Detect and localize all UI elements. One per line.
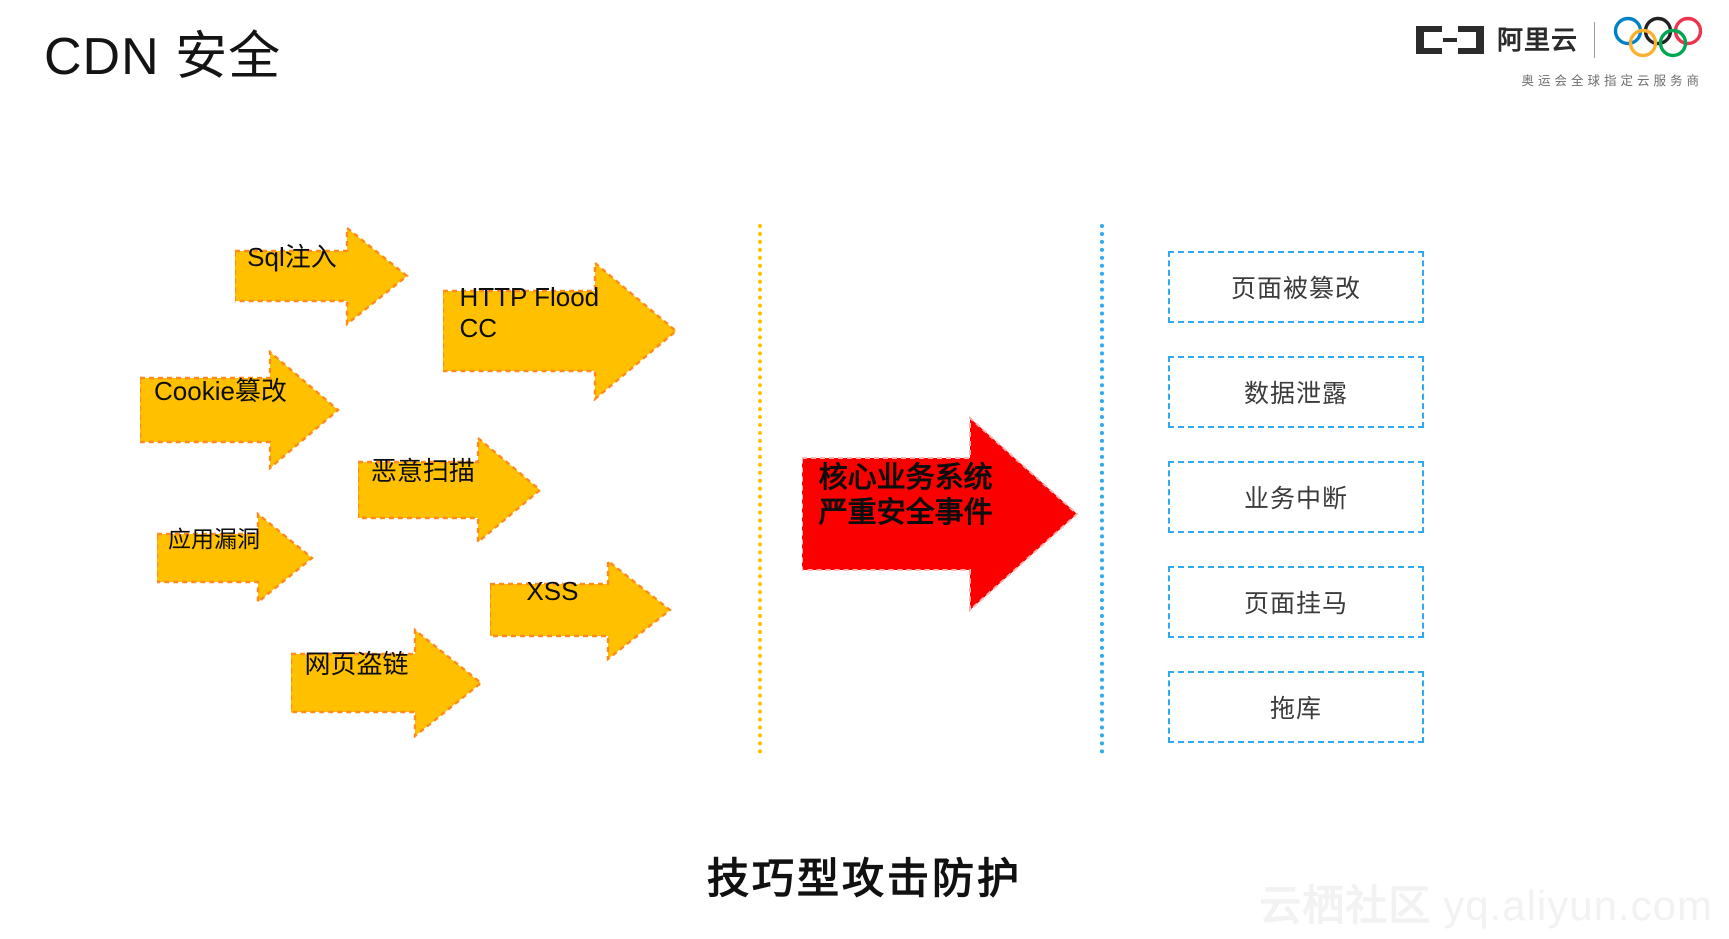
logo-divider xyxy=(1594,22,1595,58)
result-box-data-leak[interactable]: 数据泄露 xyxy=(1168,356,1424,428)
logo-tagline: 奥运会全球指定云服务商 xyxy=(1521,70,1703,89)
impact-arrow[interactable]: 核心业务系统 严重安全事件 xyxy=(802,398,1079,594)
divider-yellow xyxy=(758,224,762,754)
watermark-url: yq.aliyun.com xyxy=(1443,882,1713,929)
arrow-shape-icon xyxy=(490,541,672,643)
watermark-cn: 云栖社区 xyxy=(1259,882,1431,929)
arrow-shape-icon xyxy=(291,610,483,720)
attack-arrow-app-vulnerability[interactable]: 应用漏洞 xyxy=(157,494,314,586)
brand-name-cn: 阿里云 xyxy=(1497,27,1578,53)
result-box-db-theft[interactable]: 拖库 xyxy=(1168,671,1424,743)
page-title: CDN 安全 xyxy=(44,14,281,89)
watermark: 云栖社区yq.aliyun.com xyxy=(1259,872,1713,933)
arrow-shape-icon xyxy=(235,208,409,308)
result-box-page-tampered[interactable]: 页面被篡改 xyxy=(1168,251,1424,323)
attack-arrow-cookie-tamper[interactable]: Cookie篡改 xyxy=(140,332,340,452)
attack-arrow-malicious-scan[interactable]: 恶意扫描 xyxy=(358,418,542,526)
result-box-service-interruption[interactable]: 业务中断 xyxy=(1168,461,1424,533)
result-box-label: 页面被篡改 xyxy=(1231,269,1361,305)
olympic-rings-icon xyxy=(1611,16,1707,63)
arrow-shape-icon xyxy=(802,398,1079,594)
arrow-shape-icon xyxy=(358,418,542,526)
arrow-shape-icon xyxy=(443,243,678,383)
slide-canvas: CDN 安全 阿里云 xyxy=(0,0,1729,939)
result-box-label: 页面挂马 xyxy=(1244,584,1348,620)
attack-arrow-xss[interactable]: XSS xyxy=(490,541,672,643)
attack-arrow-http-flood-cc[interactable]: HTTP Flood CC xyxy=(443,243,678,383)
result-box-label: 拖库 xyxy=(1270,689,1322,725)
attack-arrow-hotlinking[interactable]: 网页盗链 xyxy=(291,610,483,720)
arrow-shape-icon xyxy=(140,332,340,452)
logo-row: 阿里云 xyxy=(1413,16,1707,63)
alibaba-cloud-logo-icon xyxy=(1413,23,1487,57)
brand-logo: 阿里云 奥运会全球指定云服务商 xyxy=(1413,16,1707,89)
result-box-label: 数据泄露 xyxy=(1244,374,1348,410)
result-box-page-malware[interactable]: 页面挂马 xyxy=(1168,566,1424,638)
arrow-shape-icon xyxy=(157,494,314,586)
divider-blue xyxy=(1100,224,1104,754)
attack-arrow-sql-injection[interactable]: Sql注入 xyxy=(235,208,409,308)
result-box-label: 业务中断 xyxy=(1244,479,1348,515)
